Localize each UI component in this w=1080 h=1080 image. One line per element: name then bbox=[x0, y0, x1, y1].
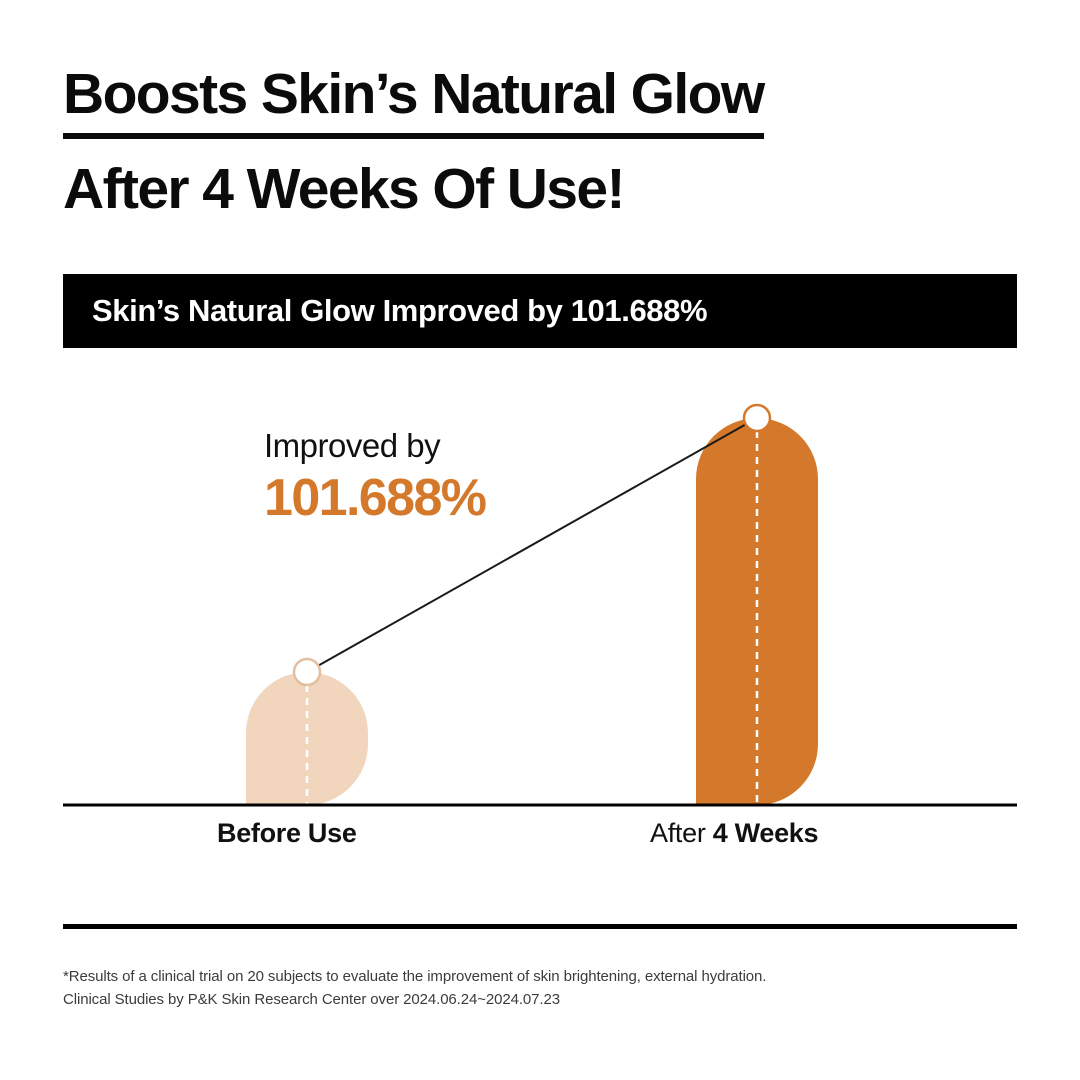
footnote: *Results of a clinical trial on 20 subje… bbox=[63, 965, 1003, 1012]
bar-chart: Improved by 101.688% Before Use After 4 … bbox=[0, 0, 1080, 1080]
improvement-callout-label: Improved by bbox=[264, 428, 664, 464]
axis-label-after-prefix: After bbox=[650, 818, 713, 848]
data-point-marker-after-4-weeks bbox=[744, 405, 770, 431]
chart-graphics bbox=[0, 0, 1080, 1080]
improvement-callout-value: 101.688% bbox=[264, 468, 664, 529]
data-point-marker-before-use bbox=[294, 659, 320, 685]
improvement-callout: Improved by 101.688% bbox=[264, 428, 664, 530]
axis-label-before-use: Before Use bbox=[217, 818, 357, 849]
footer-divider bbox=[63, 924, 1017, 929]
footnote-line-1: *Results of a clinical trial on 20 subje… bbox=[63, 965, 1003, 988]
footnote-line-2: Clinical Studies by P&K Skin Research Ce… bbox=[63, 988, 1003, 1011]
infographic-page: Boosts Skin’s Natural Glow After 4 Weeks… bbox=[0, 0, 1080, 1080]
axis-label-after-4-weeks: After 4 Weeks bbox=[650, 818, 818, 849]
axis-label-after-strong: 4 Weeks bbox=[713, 818, 818, 848]
